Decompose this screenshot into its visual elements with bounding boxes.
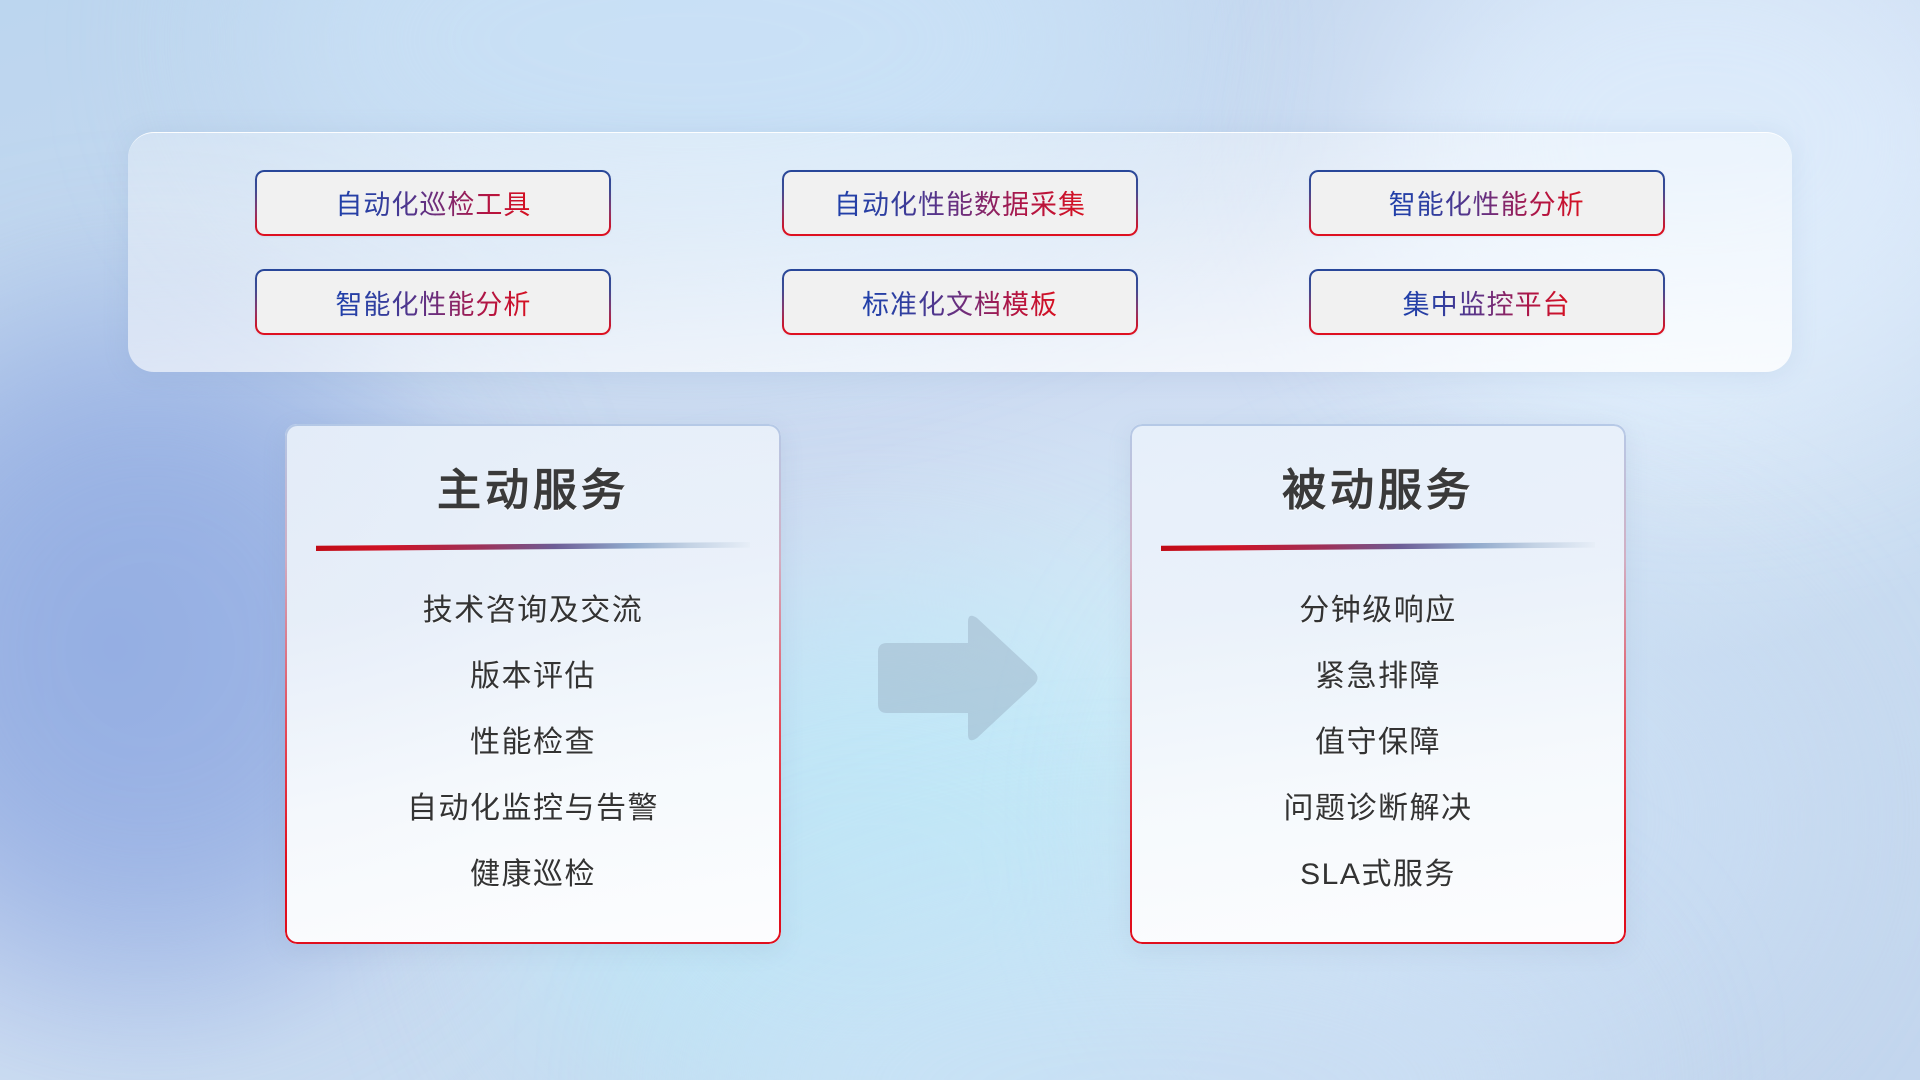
list-item: 性能检查 (470, 717, 596, 761)
list-item: 健康巡检 (470, 849, 596, 893)
list-item: 自动化监控与告警 (407, 783, 659, 827)
list-item: 版本评估 (470, 651, 596, 695)
card-title-passive: 被动服务 (1130, 454, 1626, 518)
capability-tag-intelligent-performance-analysis-bottom[interactable]: 智能化性能分析 (255, 269, 611, 335)
card-title-active: 主动服务 (285, 454, 781, 518)
list-item: 分钟级响应 (1299, 585, 1457, 629)
capability-tag-intelligent-performance-analysis-top[interactable]: 智能化性能分析 (1309, 170, 1665, 236)
capability-tag-centralized-monitoring-platform[interactable]: 集中监控平台 (1309, 269, 1665, 335)
capability-tag-automated-inspection-tool[interactable]: 自动化巡检工具 (255, 170, 611, 236)
capability-tag-label: 智能化性能分析 (1389, 183, 1585, 222)
capability-tag-automated-performance-data-collection[interactable]: 自动化性能数据采集 (782, 170, 1138, 236)
list-item: 技术咨询及交流 (423, 585, 644, 629)
capability-panel: 自动化巡检工具 自动化性能数据采集 智能化性能分析 智能化性能分析 标准化文档模… (128, 132, 1792, 372)
card-title-divider (316, 542, 750, 551)
capability-tag-label: 标准化文档模板 (862, 283, 1058, 322)
list-item: 值守保障 (1315, 717, 1441, 761)
slide-canvas: 自动化巡检工具 自动化性能数据采集 智能化性能分析 智能化性能分析 标准化文档模… (0, 0, 1920, 1080)
arrow-right-icon (872, 612, 1042, 744)
capability-tag-standard-document-template[interactable]: 标准化文档模板 (782, 269, 1138, 335)
list-item: SLA式服务 (1300, 849, 1456, 893)
list-item: 紧急排障 (1315, 651, 1441, 695)
card-item-list-passive: 分钟级响应 紧急排障 值守保障 问题诊断解决 SLA式服务 (1130, 585, 1626, 893)
service-card-active[interactable]: 主动服务 技术咨询及交流 版本评估 性能检查 自动化监控与告警 健康巡检 (285, 424, 781, 944)
capability-tag-label: 自动化巡检工具 (335, 183, 531, 222)
capability-tag-label: 自动化性能数据采集 (834, 183, 1086, 222)
capability-tag-label: 智能化性能分析 (335, 283, 531, 322)
card-title-divider (1161, 542, 1595, 551)
list-item: 问题诊断解决 (1284, 783, 1473, 827)
capability-tag-label: 集中监控平台 (1403, 283, 1571, 322)
card-item-list-active: 技术咨询及交流 版本评估 性能检查 自动化监控与告警 健康巡检 (285, 585, 781, 893)
service-card-passive[interactable]: 被动服务 分钟级响应 紧急排障 值守保障 问题诊断解决 SLA式服务 (1130, 424, 1626, 944)
